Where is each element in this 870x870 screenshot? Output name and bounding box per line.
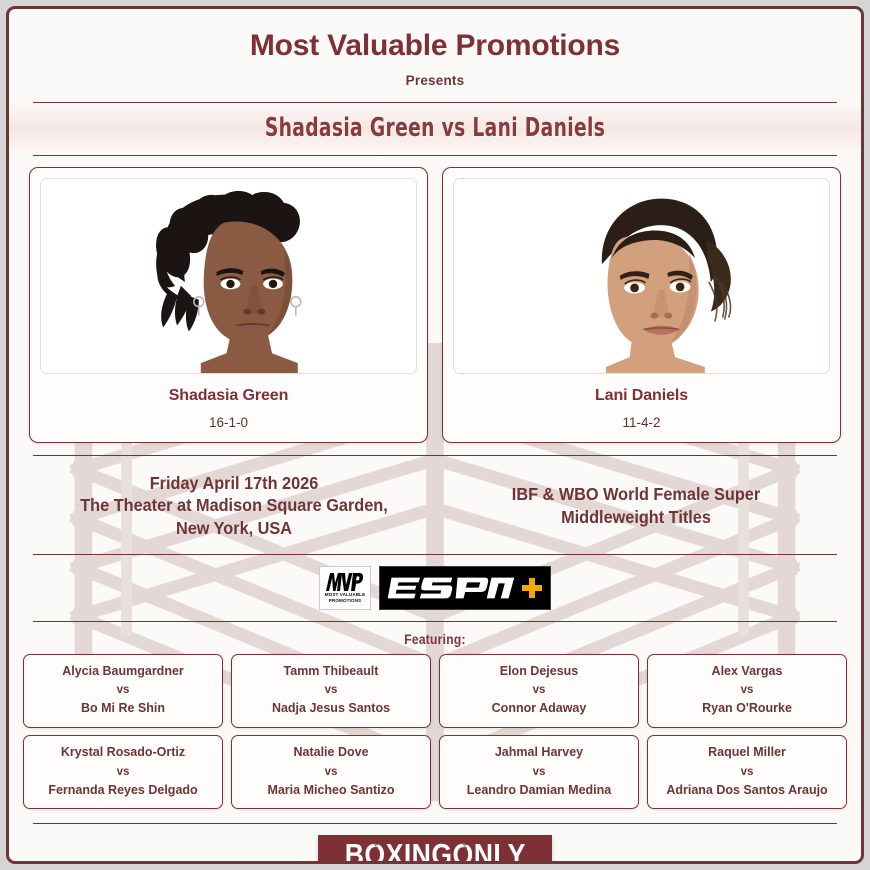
main-event-title: Shadasia Green vs Lani Daniels	[94, 113, 776, 143]
main-title-band: Shadasia Green vs Lani Daniels	[9, 103, 861, 155]
logo-o-glyph-1: OBOXING	[364, 839, 385, 864]
mvp-promotions-logo[interactable]: MOST VALUABLE PROMOTIONS	[319, 566, 371, 610]
bout-fighter-a: Tamm Thibeault	[238, 664, 424, 680]
event-date-venue: Friday April 17th 2026 The Theater at Ma…	[47, 472, 421, 540]
fighter-card[interactable]: Shadasia Green 16-1-0	[29, 167, 428, 443]
bout-fighter-b: Adriana Dos Santos Araujo	[654, 783, 840, 799]
bout-vs-label: vs	[446, 761, 632, 783]
bout-fighter-a: Alycia Baumgardner	[30, 664, 216, 680]
fight-poster: Most Valuable Promotions Presents Shadas…	[0, 0, 870, 870]
bout-fighter-b: Ryan O'Rourke	[654, 701, 840, 717]
fighter-photo	[453, 178, 830, 374]
bout-card[interactable]: Alycia Baumgardner vs Bo Mi Re Shin	[23, 654, 223, 728]
fighter-card[interactable]: Lani Daniels 11-4-2	[442, 167, 841, 443]
bout-fighter-a: Jahmal Harvey	[446, 745, 632, 761]
fighter-record: 16-1-0	[40, 405, 417, 430]
event-venue: The Theater at Madison Square Garden,	[47, 494, 421, 517]
bout-fighter-a: Elon Dejesus	[446, 664, 632, 680]
fighter-record: 11-4-2	[453, 405, 830, 430]
featuring-label: Featuring:	[69, 622, 802, 654]
bout-card[interactable]: Natalie Dove vs Maria Micheo Santizo	[231, 735, 431, 809]
fighter-cards-row: Shadasia Green 16-1-0	[9, 156, 861, 443]
bout-card[interactable]: Tamm Thibeault vs Nadja Jesus Santos	[231, 654, 431, 728]
mvp-subtext-line-2: PROMOTIONS	[325, 598, 366, 604]
bout-fighter-b: Maria Micheo Santizo	[238, 783, 424, 799]
mvp-subtext-line-1: MOST VALUABLE	[325, 592, 366, 598]
fighter-name: Lani Daniels	[453, 374, 830, 405]
logo-text-part-2: XING	[385, 839, 452, 864]
logo-text-part-3: NLY	[473, 839, 525, 864]
logo-o-glyph-2: OBOXING	[452, 839, 473, 864]
bout-vs-label: vs	[30, 679, 216, 701]
bout-fighter-b: Leandro Damian Medina	[446, 783, 632, 799]
bout-card[interactable]: Alex Vargas vs Ryan O'Rourke	[647, 654, 847, 728]
mvp-logo-subtext: MOST VALUABLE PROMOTIONS	[325, 592, 366, 603]
bout-vs-label: vs	[30, 761, 216, 783]
espn-plus-logo[interactable]	[379, 566, 551, 610]
bout-vs-label: vs	[238, 761, 424, 783]
bout-fighter-a: Alex Vargas	[654, 664, 840, 680]
bout-fighter-a: Raquel Miller	[654, 745, 840, 761]
event-city: New York, USA	[47, 517, 421, 540]
bout-fighter-b: Connor Adaway	[446, 701, 632, 717]
boxing-only-logo[interactable]: B OBOXING XING OBOXING NLY	[318, 835, 553, 864]
bout-card[interactable]: Krystal Rosado-Ortiz vs Fernanda Reyes D…	[23, 735, 223, 809]
fighter-photo	[40, 178, 417, 374]
poster-content: Most Valuable Promotions Presents Shadas…	[9, 9, 861, 861]
bout-fighter-b: Nadja Jesus Santos	[238, 701, 424, 717]
logo-o-inner-text-2: BOXING	[460, 841, 466, 864]
bout-vs-label: vs	[446, 679, 632, 701]
boxing-only-wordmark: B OBOXING XING OBOXING NLY	[344, 839, 525, 864]
titles-line-1: IBF & WBO World Female Super	[449, 483, 823, 506]
bout-fighter-b: Bo Mi Re Shin	[30, 701, 216, 717]
titles-line-2: Middleweight Titles	[449, 506, 823, 529]
bout-vs-label: vs	[654, 761, 840, 783]
undercard-bouts-grid: Alycia Baumgardner vs Bo Mi Re Shin Tamm…	[9, 654, 861, 810]
espn-plus-icon	[521, 577, 543, 599]
poster-frame: Most Valuable Promotions Presents Shadas…	[6, 6, 864, 864]
bout-fighter-a: Natalie Dove	[238, 745, 424, 761]
logo-o-inner-text-1: BOXING	[372, 841, 378, 864]
bout-fighter-b: Fernanda Reyes Delgado	[30, 783, 216, 799]
logo-text-part-1: B	[344, 839, 364, 864]
footer-logo-row: B OBOXING XING OBOXING NLY	[9, 824, 861, 864]
bout-card[interactable]: Jahmal Harvey vs Leandro Damian Medina	[439, 735, 639, 809]
promoter-title: Most Valuable Promotions	[9, 9, 861, 64]
broadcast-logos-row: MOST VALUABLE PROMOTIONS	[9, 555, 861, 621]
event-details-row: Friday April 17th 2026 The Theater at Ma…	[9, 456, 861, 554]
event-date: Friday April 17th 2026	[47, 472, 421, 495]
bout-vs-label: vs	[654, 679, 840, 701]
bout-card[interactable]: Elon Dejesus vs Connor Adaway	[439, 654, 639, 728]
event-titles: IBF & WBO World Female Super Middleweigh…	[449, 483, 823, 529]
fighter-name: Shadasia Green	[40, 374, 417, 405]
bout-fighter-a: Krystal Rosado-Ortiz	[30, 745, 216, 761]
bout-card[interactable]: Raquel Miller vs Adriana Dos Santos Arau…	[647, 735, 847, 809]
bout-vs-label: vs	[238, 679, 424, 701]
presents-label: Presents	[9, 64, 861, 88]
